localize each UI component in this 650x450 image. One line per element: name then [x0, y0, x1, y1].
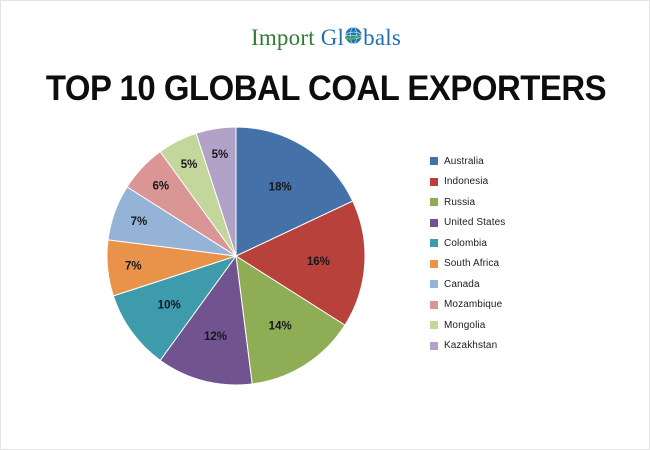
legend-color-swatch	[430, 301, 438, 309]
legend-item-label: Australia	[444, 156, 484, 167]
pie-slice-label: 5%	[212, 149, 229, 161]
pie-slice-label: 18%	[269, 181, 292, 193]
logo-text-import: Import	[251, 25, 315, 50]
legend-color-swatch	[430, 239, 438, 247]
legend-item[interactable]: Russia	[430, 192, 580, 213]
legend-color-swatch	[430, 342, 438, 350]
legend-color-swatch	[430, 219, 438, 227]
globe-icon	[344, 26, 363, 45]
pie-slice-label: 16%	[307, 256, 330, 268]
legend-color-swatch	[430, 157, 438, 165]
legend-item[interactable]: Canada	[430, 274, 580, 295]
legend-item-label: Mozambique	[444, 299, 502, 310]
pie-chart: 18%16%14%12%10%7%7%6%5%5%	[106, 126, 366, 386]
legend-item-label: Mongolia	[444, 320, 485, 331]
legend-item[interactable]: Kazakhstan	[430, 336, 580, 357]
logo-text-bals: bals	[363, 25, 401, 50]
page-title: TOP 10 GLOBAL COAL EXPORTERS	[21, 69, 632, 109]
legend-item[interactable]: United States	[430, 213, 580, 234]
legend-item-label: Kazakhstan	[444, 340, 497, 351]
legend-item-label: Canada	[444, 279, 480, 290]
pie-chart-svg: 18%16%14%12%10%7%7%6%5%5%	[106, 126, 366, 386]
pie-slice-label: 12%	[204, 331, 227, 343]
logo-text-gl: Gl	[321, 25, 344, 50]
legend-item-label: Russia	[444, 197, 475, 208]
pie-slice-label: 10%	[158, 300, 181, 312]
legend-color-swatch	[430, 280, 438, 288]
legend-item[interactable]: Australia	[430, 151, 580, 172]
legend-color-swatch	[430, 178, 438, 186]
pie-slice-label: 5%	[181, 159, 198, 171]
legend-item-label: United States	[444, 217, 505, 228]
pie-slice-label: 7%	[125, 261, 142, 273]
legend-item[interactable]: Mongolia	[430, 315, 580, 336]
legend-color-swatch	[430, 321, 438, 329]
legend-item[interactable]: Mozambique	[430, 295, 580, 316]
legend-item[interactable]: Colombia	[430, 233, 580, 254]
chart-legend: AustraliaIndonesiaRussiaUnited StatesCol…	[430, 151, 580, 356]
legend-color-swatch	[430, 198, 438, 206]
legend-color-swatch	[430, 260, 438, 268]
legend-item-label: Colombia	[444, 238, 487, 249]
pie-slice-label: 7%	[131, 216, 148, 228]
pie-slice-label: 6%	[152, 180, 169, 192]
legend-item-label: South Africa	[444, 258, 499, 269]
brand-logo: Import Gl bals	[1, 25, 650, 51]
chart-canvas: Import Gl bals TOP 10 GLOBAL COAL EXPORT…	[0, 0, 650, 450]
legend-item[interactable]: South Africa	[430, 254, 580, 275]
legend-item[interactable]: Indonesia	[430, 172, 580, 193]
pie-slice-label: 14%	[269, 321, 292, 333]
legend-item-label: Indonesia	[444, 176, 488, 187]
